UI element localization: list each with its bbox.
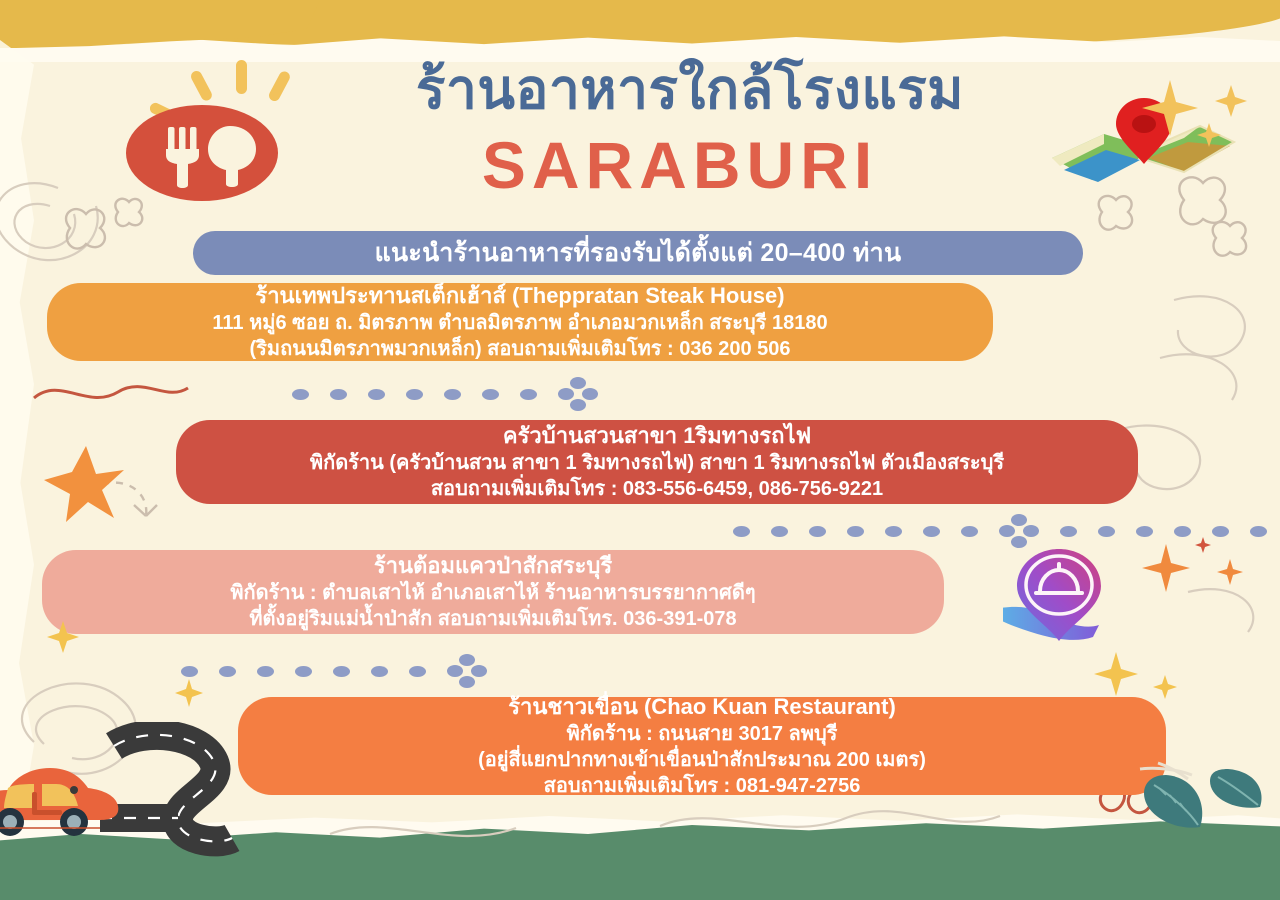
separator-dot xyxy=(923,526,940,537)
restaurant-name: ร้านชาวเขื่อน (Chao Kuan Restaurant) xyxy=(508,693,896,721)
separator-dot xyxy=(219,666,236,677)
separator-dot xyxy=(368,389,385,400)
restaurant-address: พิกัดร้าน : ถนนสาย 3017 ลพบุรี xyxy=(567,721,838,747)
sparkle-icon xyxy=(1196,122,1222,148)
separator-dot xyxy=(257,666,274,677)
restaurant-contact: ที่ตั้งอยู่ริมแม่น้ำป่าสัก สอบถามเพิ่มเต… xyxy=(249,606,736,632)
separator-dot xyxy=(292,389,309,400)
separator-dot xyxy=(1212,526,1229,537)
sparkle-icon xyxy=(1140,78,1200,138)
car-on-winding-road-icon xyxy=(0,722,296,872)
separator-dot xyxy=(1098,526,1115,537)
sparkle-icon xyxy=(1092,650,1140,698)
separator-dot xyxy=(520,389,537,400)
separator-dot xyxy=(444,389,461,400)
separator-dot xyxy=(809,526,826,537)
restaurant-address: พิกัดร้าน : ตำบลเสาไห้ อำเภอเสาไห้ ร้านอ… xyxy=(230,580,755,606)
separator-dot xyxy=(1250,526,1267,537)
separator-dot xyxy=(333,666,350,677)
restaurant-name: ร้านต้อมแควป่าสักสระบุรี xyxy=(374,552,612,580)
separator-dot xyxy=(330,389,347,400)
restaurant-contact: สอบถามเพิ่มเติมโทร : 081-947-2756 xyxy=(544,773,861,799)
separator-dot xyxy=(409,666,426,677)
restaurant-card-3[interactable]: ร้านต้อมแควป่าสักสระบุรี พิกัดร้าน : ตำบ… xyxy=(42,550,944,634)
four-petal-clover-icon xyxy=(999,514,1039,548)
sparkle-icon xyxy=(46,620,80,654)
dot-separator-3 xyxy=(181,654,508,688)
separator-dot xyxy=(1136,526,1153,537)
food-dome-location-pin-icon xyxy=(1003,545,1115,645)
restaurant-name: ร้านเทพประทานสเต็กเฮ้าส์ (Theppratan Ste… xyxy=(255,282,784,310)
sparkle-icon xyxy=(174,678,204,708)
separator-dot xyxy=(406,389,423,400)
separator-dot xyxy=(733,526,750,537)
sparkle-icon xyxy=(1214,84,1248,118)
sparkle-icon xyxy=(1152,674,1178,700)
restaurant-card-1[interactable]: ร้านเทพประทานสเต็กเฮ้าส์ (Theppratan Ste… xyxy=(47,283,993,361)
separator-dot xyxy=(371,666,388,677)
four-petal-clover-icon xyxy=(558,377,598,411)
restaurant-card-2[interactable]: ครัวบ้านสวนสาขา 1ริมทางรถไฟ พิกัดร้าน (ค… xyxy=(176,420,1138,504)
separator-dot xyxy=(1174,526,1191,537)
sparkle-icon xyxy=(1216,558,1244,586)
subtitle-banner: แนะนำร้านอาหารที่รองรับได้ตั้งแต่ 20–400… xyxy=(193,231,1083,275)
subtitle-text: แนะนำร้านอาหารที่รองรับได้ตั้งแต่ 20–400… xyxy=(375,233,902,273)
separator-dot xyxy=(885,526,902,537)
page-title-english: SARABURI xyxy=(250,132,1110,198)
page-title-thai: ร้านอาหารใกล้โรงแรม xyxy=(250,62,1130,117)
restaurant-card-4[interactable]: ร้านชาวเขื่อน (Chao Kuan Restaurant) พิก… xyxy=(238,697,1166,795)
four-petal-clover-icon xyxy=(447,654,487,688)
restaurant-contact: (ริมถนนมิตรภาพมวกเหล็ก) สอบถามเพิ่มเติมโ… xyxy=(250,336,791,362)
separator-dot xyxy=(181,666,198,677)
dot-separator-1 xyxy=(292,377,619,411)
leaf-sprig-icon xyxy=(1082,755,1272,865)
sparkle-icon xyxy=(1194,536,1212,554)
restaurant-address: พิกัดร้าน (ครัวบ้านสวน สาขา 1 ริมทางรถไฟ… xyxy=(310,450,1004,476)
restaurant-detail: (อยู่สี่แยกปากทางเข้าเขื่อนป่าสักประมาณ … xyxy=(478,747,926,773)
restaurant-name: ครัวบ้านสวนสาขา 1ริมทางรถไฟ xyxy=(503,422,811,450)
infographic-poster: ร้านอาหารใกล้โรงแรม SARABURI แนะนำร้านอา… xyxy=(0,0,1280,900)
separator-dot xyxy=(771,526,788,537)
separator-dot xyxy=(847,526,864,537)
separator-dot xyxy=(295,666,312,677)
separator-dot xyxy=(482,389,499,400)
restaurant-contact: สอบถามเพิ่มเติมโทร : 083-556-6459, 086-7… xyxy=(431,476,883,502)
sparkle-icon xyxy=(1140,542,1192,594)
separator-dot xyxy=(1060,526,1077,537)
separator-dot xyxy=(961,526,978,537)
restaurant-address: 111 หมู่6 ซอย ถ. มิตรภาพ ตำบลมิตรภาพ อำเ… xyxy=(212,310,827,336)
